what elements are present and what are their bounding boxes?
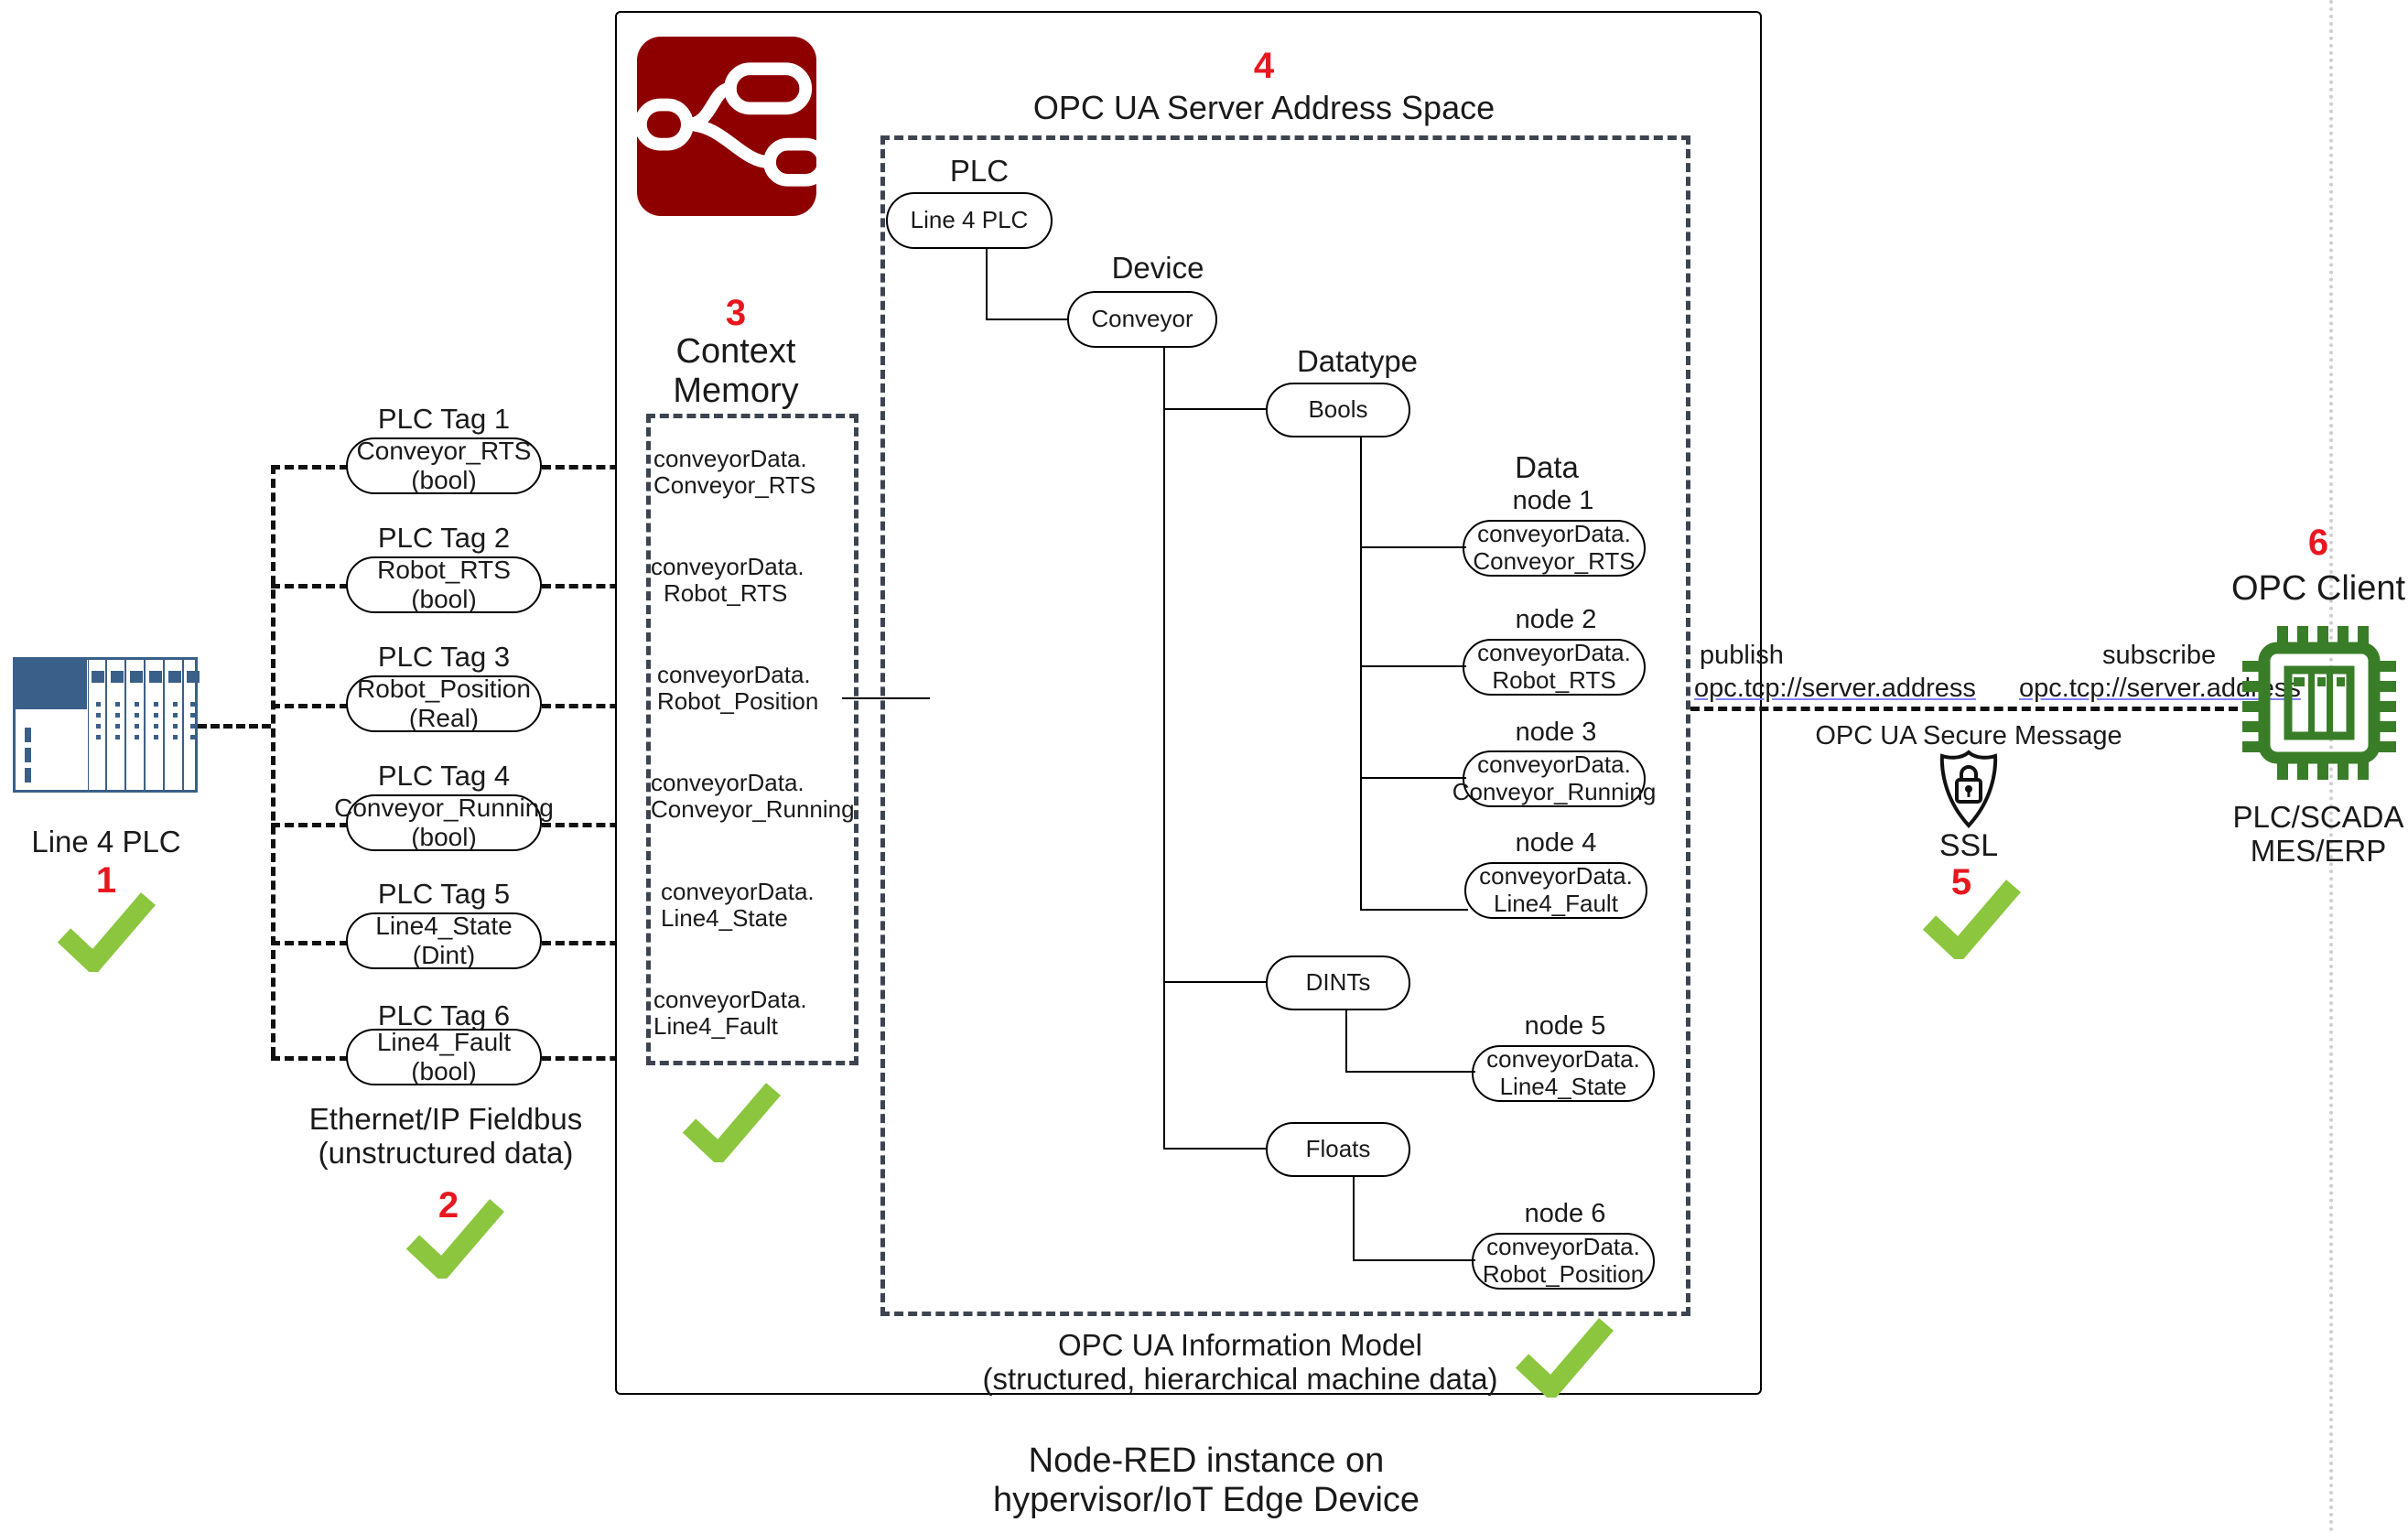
- tree-link-bools-h: [1163, 408, 1268, 410]
- plc-tag-5-type: (Dint): [413, 941, 475, 969]
- data-node-3-line1: conveyorData.: [1477, 750, 1631, 778]
- context-memory-entry-3-line1: conveyorData.: [657, 661, 811, 688]
- cpu-chip-icon: [2241, 624, 2398, 782]
- data-node-6-caption: node 6: [1525, 1199, 1606, 1229]
- secure-message-label: OPC UA Secure Message: [1815, 721, 2122, 750]
- context-memory-entry-3-line2: Robot_Position: [657, 687, 818, 715]
- edge-device-caption-line1: Node-RED instance on: [1029, 1441, 1385, 1480]
- context-memory-entry-4-line2: Conveyor_Running: [651, 795, 855, 823]
- context-memory-entry-5-line1: conveyorData.: [661, 878, 815, 905]
- tree-link-node1-h: [1360, 546, 1466, 548]
- data-node-3[interactable]: conveyorData. Conveyor_Running: [1463, 750, 1646, 807]
- opc-client-subtitle-line1: PLC/SCADA: [2232, 800, 2403, 834]
- context-memory-entry-2: conveyorData. Robot_RTS: [651, 554, 804, 607]
- tree-link-dints-h: [1163, 981, 1268, 983]
- data-node-1[interactable]: conveyorData. Conveyor_RTS: [1463, 520, 1646, 577]
- fieldbus-branch-5: [271, 941, 349, 945]
- data-node-5[interactable]: conveyorData. Line4_State: [1472, 1045, 1655, 1102]
- ssl-label: SSL: [1939, 828, 1998, 863]
- data-node-1-line1: conveyorData.: [1477, 520, 1631, 547]
- plc-tag-4-name: Conveyor_Running: [334, 793, 554, 822]
- plc-tag-4-type: (bool): [411, 823, 477, 851]
- data-node-5-line1: conveyorData.: [1486, 1045, 1640, 1073]
- checkmark-4-icon: [1515, 1315, 1615, 1398]
- plc-tag-2-node[interactable]: Robot_RTS (bool): [346, 556, 542, 613]
- plc-tag-2-caption: PLC Tag 2: [378, 522, 510, 555]
- plc-tag-6-node[interactable]: Line4_Fault (bool): [346, 1029, 542, 1085]
- checkmark-3-icon: [682, 1080, 783, 1162]
- tree-link-node2-h: [1360, 665, 1466, 667]
- level-label-plc: PLC: [950, 154, 1009, 189]
- context-memory-entry-6: conveyorData. Line4_Fault: [653, 987, 807, 1040]
- data-node-6-line2: Robot_Position: [1483, 1260, 1644, 1288]
- context-memory-entry-6-line1: conveyorData.: [653, 986, 807, 1013]
- data-node-2[interactable]: conveyorData. Robot_RTS: [1463, 639, 1646, 696]
- address-space-footer: OPC UA Information Model (structured, hi…: [982, 1329, 1497, 1397]
- plc-rack-icon: [13, 657, 198, 793]
- publish-label: publish: [1700, 641, 1784, 670]
- publish-url: opc.tcp://server.address: [1694, 674, 1976, 703]
- plc-device-label: Line 4 PLC: [31, 826, 180, 859]
- address-space-device-node[interactable]: Conveyor: [1067, 291, 1217, 348]
- fieldbus-label-line1: Ethernet/IP Fieldbus: [309, 1102, 582, 1136]
- plc-tag-1-type: (bool): [411, 466, 477, 494]
- edge-device-caption: Node-RED instance on hypervisor/IoT Edge…: [993, 1441, 1420, 1519]
- plc-tag-1-name: Conveyor_RTS: [357, 437, 532, 465]
- address-space-footer-line1: OPC UA Information Model: [1058, 1328, 1422, 1362]
- context-memory-title-line1: Context: [676, 332, 796, 371]
- data-node-2-caption: node 2: [1516, 605, 1597, 635]
- checkmark-1-icon: [57, 890, 157, 972]
- tree-link-node5-h: [1345, 1071, 1475, 1073]
- step-number-4: 4: [1254, 46, 1274, 87]
- step-number-6: 6: [2308, 523, 2328, 564]
- edge-device-caption-line2: hypervisor/IoT Edge Device: [993, 1481, 1420, 1519]
- plc-tag-5-caption: PLC Tag 5: [378, 878, 510, 911]
- data-node-3-line2: Conveyor_Running: [1452, 778, 1657, 805]
- step-number-3: 3: [726, 293, 746, 334]
- context-memory-entry-4: conveyorData. Conveyor_Running: [651, 770, 855, 823]
- address-space-plc-node[interactable]: Line 4 PLC: [886, 192, 1053, 249]
- subscribe-label: subscribe: [2102, 641, 2216, 670]
- tree-link-node3-h: [1360, 777, 1466, 779]
- data-node-4-line2: Line4_Fault: [1494, 890, 1618, 917]
- data-node-4-caption: node 4: [1516, 828, 1597, 858]
- tree-link-plc-h: [986, 318, 1069, 320]
- context-memory-title: Context Memory: [673, 332, 798, 410]
- opc-client-title: OPC Client: [2231, 569, 2405, 609]
- context-memory-entry-1-line2: Conveyor_RTS: [653, 471, 815, 499]
- opcua-wire: [1690, 707, 2238, 711]
- plc-tag-5-name: Line4_State: [375, 912, 512, 940]
- plc-tag-2-name: Robot_RTS: [377, 556, 511, 584]
- fieldbus-label: Ethernet/IP Fieldbus (unstructured data): [309, 1103, 582, 1171]
- data-node-5-line2: Line4_State: [1500, 1073, 1627, 1100]
- checkmark-5-icon: [1922, 877, 2023, 959]
- plc-tag-1-node[interactable]: Conveyor_RTS (bool): [346, 437, 542, 494]
- tree-link-floats-h: [1163, 1148, 1268, 1150]
- tree-link-plc-v: [986, 249, 988, 320]
- plc-tag-2-type: (bool): [411, 585, 477, 613]
- tree-link-bools-v: [1360, 437, 1362, 911]
- context-memory-entry-2-line2: Robot_RTS: [664, 580, 787, 607]
- data-node-1-line2: Conveyor_RTS: [1473, 547, 1635, 575]
- context-memory-entry-6-line2: Line4_Fault: [653, 1012, 778, 1040]
- plc-tag-3-caption: PLC Tag 3: [378, 641, 510, 674]
- data-node-4-line1: conveyorData.: [1479, 862, 1633, 890]
- plc-tag-4-node[interactable]: Conveyor_Running (bool): [346, 794, 542, 851]
- fieldbus-branch-6: [271, 1056, 349, 1061]
- level-label-data: Data: [1515, 450, 1579, 485]
- context-memory-entry-4-line1: conveyorData.: [651, 769, 804, 796]
- fieldbus-label-line2: (unstructured data): [319, 1136, 574, 1170]
- data-node-2-line1: conveyorData.: [1477, 639, 1631, 666]
- context-memory-entry-3: conveyorData. Robot_Position: [657, 662, 818, 715]
- address-space-footer-line2: (structured, hierarchical machine data): [982, 1362, 1497, 1396]
- datatype-dints-node[interactable]: DINTs: [1266, 955, 1410, 1010]
- plc-tag-6-name: Line4_Fault: [377, 1028, 511, 1056]
- data-node-6[interactable]: conveyorData. Robot_Position: [1472, 1233, 1655, 1290]
- fieldbus-branch-1: [271, 465, 349, 470]
- fieldbus-trunk: [271, 465, 275, 1056]
- tree-link-floats-v: [1353, 1177, 1355, 1261]
- checkmark-2-icon: [405, 1196, 506, 1279]
- data-node-4[interactable]: conveyorData. Line4_Fault: [1464, 862, 1647, 919]
- context-memory-entry-5: conveyorData. Line4_State: [661, 879, 815, 932]
- data-node-5-caption: node 5: [1525, 1011, 1606, 1042]
- tree-link-dints-v: [1345, 1010, 1347, 1073]
- fieldbus-link-plc: [198, 724, 271, 729]
- context-memory-title-line2: Memory: [673, 372, 798, 410]
- plc-tag-3-node[interactable]: Robot_Position (Real): [346, 675, 542, 732]
- tree-link-node6-h: [1353, 1259, 1475, 1261]
- datatype-bools-node[interactable]: Bools: [1266, 383, 1410, 437]
- datatype-floats-node[interactable]: Floats: [1266, 1122, 1410, 1177]
- plc-tag-1-caption: PLC Tag 1: [378, 403, 510, 436]
- address-space-title: OPC UA Server Address Space: [1033, 90, 1495, 126]
- opc-client-subtitle-line2: MES/ERP: [2251, 834, 2387, 868]
- context-memory-entry-1-line1: conveyorData.: [653, 445, 807, 472]
- data-node-6-line1: conveyorData.: [1486, 1233, 1640, 1260]
- level-label-datatype: Datatype: [1297, 344, 1418, 379]
- data-node-2-line2: Robot_RTS: [1492, 666, 1615, 694]
- plc-tag-6-type: (bool): [411, 1057, 477, 1085]
- context-memory-entry-1: conveyorData. Conveyor_RTS: [653, 446, 815, 499]
- tree-link-node4-h: [1360, 909, 1468, 911]
- diagram-canvas: Line 4 PLC 1 PLC Tag 1 Conveyor_RTS (boo…: [0, 0, 2408, 1533]
- level-label-device: Device: [1112, 251, 1204, 286]
- data-node-3-caption: node 3: [1516, 718, 1597, 748]
- context-memory-entry-2-line1: conveyorData.: [651, 553, 804, 580]
- context-memory-box: [646, 414, 858, 1065]
- tree-link-device-v: [1163, 348, 1165, 1150]
- plc-tag-3-name: Robot_Position: [357, 675, 531, 703]
- opc-client-subtitle: PLC/SCADA MES/ERP: [2232, 801, 2403, 869]
- plc-tag-3-type: (Real): [409, 704, 479, 732]
- fieldbus-branch-2: [271, 584, 349, 588]
- plc-tag-5-node[interactable]: Line4_State (Dint): [346, 912, 542, 969]
- fieldbus-branch-3: [271, 704, 349, 708]
- context-memory-entry-5-line2: Line4_State: [661, 904, 788, 932]
- plc-tag-4-caption: PLC Tag 4: [378, 760, 510, 793]
- data-node-1-caption: node 1: [1513, 486, 1594, 516]
- node-red-logo-icon: [637, 37, 816, 216]
- shield-lock-icon: [1935, 749, 2003, 829]
